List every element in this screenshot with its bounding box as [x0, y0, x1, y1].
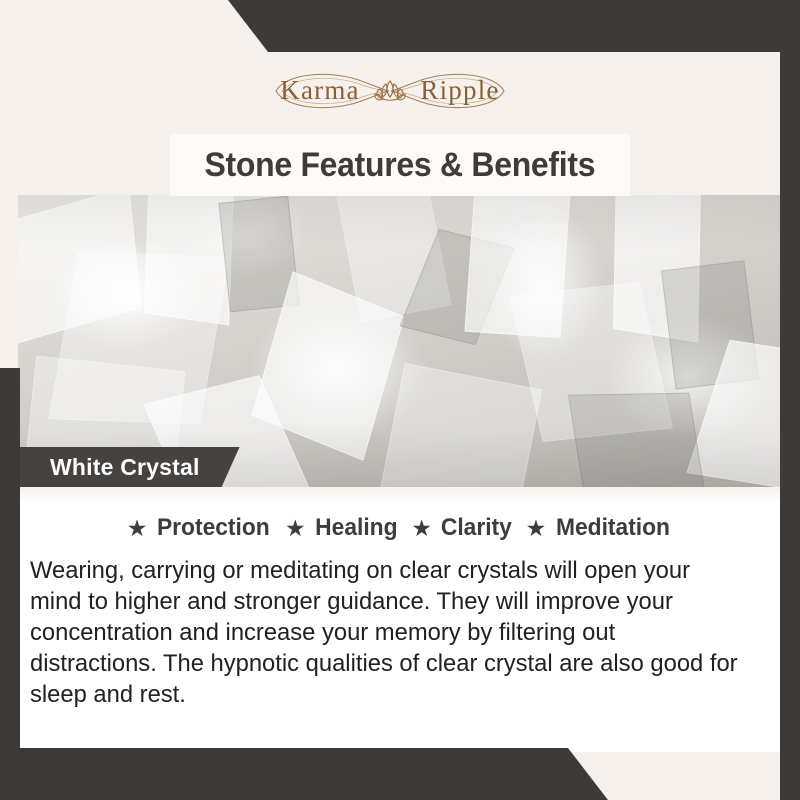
star-icon: ★: [411, 517, 432, 540]
benefit-item-protection: ★ Protection: [127, 514, 273, 542]
content-panel: ★ Protection ★ Healing ★ Clarity ★ Medit…: [20, 487, 780, 752]
benefit-item-clarity: ★ Clarity: [411, 514, 513, 542]
benefit-label: Clarity: [441, 514, 512, 542]
content-top-fade: [20, 487, 780, 503]
benefits-row: ★ Protection ★ Healing ★ Clarity ★ Medit…: [20, 514, 780, 542]
frame-bottom-bar: [0, 748, 800, 800]
lotus-icon: [375, 81, 405, 100]
title-banner: Stone Features & Benefits: [170, 134, 630, 196]
benefit-item-meditation: ★ Meditation: [526, 514, 674, 542]
benefit-label: Protection: [157, 514, 270, 542]
karma-ripple-logo: Karma Ripple: [260, 63, 520, 119]
star-icon: ★: [285, 517, 306, 540]
benefit-label: Healing: [315, 514, 397, 542]
stone-photo: [18, 195, 780, 487]
logo-artwork: Karma Ripple: [260, 63, 520, 119]
stone-name-label: White Crystal: [50, 454, 200, 481]
logo-word-left: Karma: [280, 75, 359, 105]
stone-name-tag: White Crystal: [20, 447, 240, 487]
page-title: Stone Features & Benefits: [205, 146, 596, 185]
brand-header: Karma Ripple: [0, 52, 780, 130]
stone-description: Wearing, carrying or meditating on clear…: [30, 555, 748, 710]
benefit-label: Meditation: [556, 514, 670, 542]
frame-top-bar: [0, 0, 800, 52]
benefit-item-healing: ★ Healing: [285, 514, 399, 542]
frame-left-bar: [0, 368, 20, 800]
logo-word-right: Ripple: [420, 75, 499, 105]
infographic-card: Karma Ripple Stone Features & Benefits: [0, 0, 800, 800]
frame-right-bar: [780, 0, 800, 800]
star-icon: ★: [526, 517, 547, 540]
photo-vignette: [18, 195, 780, 487]
star-icon: ★: [127, 517, 148, 540]
